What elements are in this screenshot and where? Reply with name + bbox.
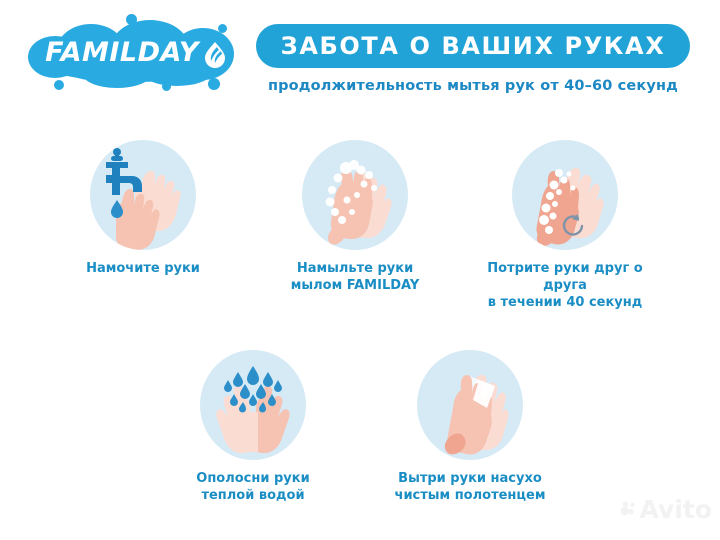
step-item-4: Ополосни руки теплой водой [158, 350, 348, 504]
step-illustration-circle [417, 350, 523, 460]
avito-logo-icon [620, 497, 637, 521]
header-banner: ЗАБОТА О ВАШИХ РУКАХ [256, 24, 690, 68]
infographic-poster: FAMILDAY ЗАБОТА О ВАШИХ РУКАХ продолжите… [0, 0, 720, 540]
step-item-2: Намыльте руки мылом FAMILDAY [260, 140, 450, 294]
faucet-with-hands-icon [90, 140, 196, 250]
logo-bubble-icon [208, 78, 220, 90]
brand-logo: FAMILDAY [22, 14, 247, 92]
step-item-1: Намочите руки [48, 140, 238, 277]
step-caption: Намочите руки [48, 260, 238, 277]
step-caption: Ополосни руки теплой водой [158, 470, 348, 504]
page-title: ЗАБОТА О ВАШИХ РУКАХ [281, 32, 666, 60]
rubbing-hands-icon [512, 140, 618, 250]
soapy-hands-icon [302, 140, 408, 250]
step-illustration-circle [90, 140, 196, 250]
step-item-5: Вытри руки насухо чистым полотенцем [375, 350, 565, 504]
step-illustration-circle [200, 350, 306, 460]
step-caption: Потрите руки друг о друга в течении 40 с… [470, 260, 660, 311]
water-drop-swirl-icon [200, 40, 230, 70]
rinsing-hands-with-droplets-icon [200, 350, 306, 460]
step-caption: Намыльте руки мылом FAMILDAY [260, 260, 450, 294]
watermark-label: Avito [640, 497, 712, 522]
logo-bubble-icon [162, 82, 171, 91]
step-illustration-circle [512, 140, 618, 250]
avito-watermark: Avito [620, 492, 712, 526]
page-subtitle: продолжительность мытья рук от 40–60 сек… [256, 78, 690, 94]
drying-hands-with-towel-icon [417, 350, 523, 460]
step-illustration-circle [302, 140, 408, 250]
step-caption: Вытри руки насухо чистым полотенцем [375, 470, 565, 504]
logo-bubble-icon [218, 24, 227, 33]
logo-bubble-icon [54, 80, 64, 90]
step-item-3: Потрите руки друг о друга в течении 40 с… [470, 140, 660, 311]
logo-bubble-icon [126, 14, 137, 25]
brand-wordmark: FAMILDAY [42, 38, 202, 68]
